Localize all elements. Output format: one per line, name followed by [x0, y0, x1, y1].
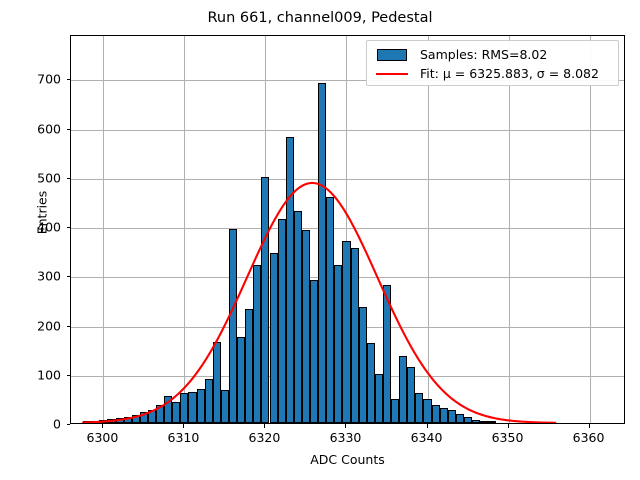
x-tick-mark	[102, 424, 103, 428]
x-tick-label: 6330	[330, 430, 362, 445]
y-tick-label: 0	[0, 417, 61, 432]
legend-swatch-samples-icon	[373, 48, 411, 62]
y-tick-label: 100	[0, 367, 61, 382]
y-tick-mark	[67, 424, 71, 425]
y-tick-label: 600	[0, 121, 61, 136]
y-tick-mark	[67, 276, 71, 277]
y-axis-label: Entries	[35, 153, 50, 273]
y-tick-mark	[67, 178, 71, 179]
legend-label-fit: Fit: μ = 6325.883, σ = 8.082	[420, 66, 599, 81]
x-tick-mark	[183, 424, 184, 428]
x-tick-label: 6320	[249, 430, 281, 445]
y-tick-label: 700	[0, 72, 61, 87]
y-tick-mark	[67, 129, 71, 130]
x-tick-label: 6310	[168, 430, 200, 445]
x-tick-label: 6300	[87, 430, 119, 445]
y-tick-label: 300	[0, 269, 61, 284]
legend-entry-samples: Samples: RMS=8.02	[373, 45, 612, 64]
plot-area	[70, 35, 625, 424]
y-tick-mark	[67, 326, 71, 327]
legend-entry-fit: Fit: μ = 6325.883, σ = 8.082	[373, 64, 612, 83]
x-axis-label: ADC Counts	[70, 452, 625, 467]
chart-title: Run 661, channel009, Pedestal	[0, 10, 640, 26]
y-tick-mark	[67, 79, 71, 80]
x-tick-label: 6360	[573, 430, 605, 445]
y-tick-label: 200	[0, 318, 61, 333]
y-tick-mark	[67, 227, 71, 228]
legend-label-samples: Samples: RMS=8.02	[420, 47, 547, 62]
x-tick-label: 6340	[411, 430, 443, 445]
y-tick-label: 500	[0, 170, 61, 185]
y-tick-mark	[67, 375, 71, 376]
figure-canvas: Run 661, channel009, Pedestal 6300631063…	[0, 0, 640, 480]
x-tick-mark	[345, 424, 346, 428]
legend-box[interactable]: Samples: RMS=8.02 Fit: μ = 6325.883, σ =…	[366, 40, 619, 86]
y-tick-label: 400	[0, 220, 61, 235]
gaussian-fit-curve	[71, 36, 624, 423]
x-tick-mark	[427, 424, 428, 428]
x-tick-mark	[264, 424, 265, 428]
x-tick-label: 6350	[492, 430, 524, 445]
x-tick-mark	[589, 424, 590, 428]
x-tick-mark	[508, 424, 509, 428]
legend-line-fit-icon	[373, 67, 411, 81]
